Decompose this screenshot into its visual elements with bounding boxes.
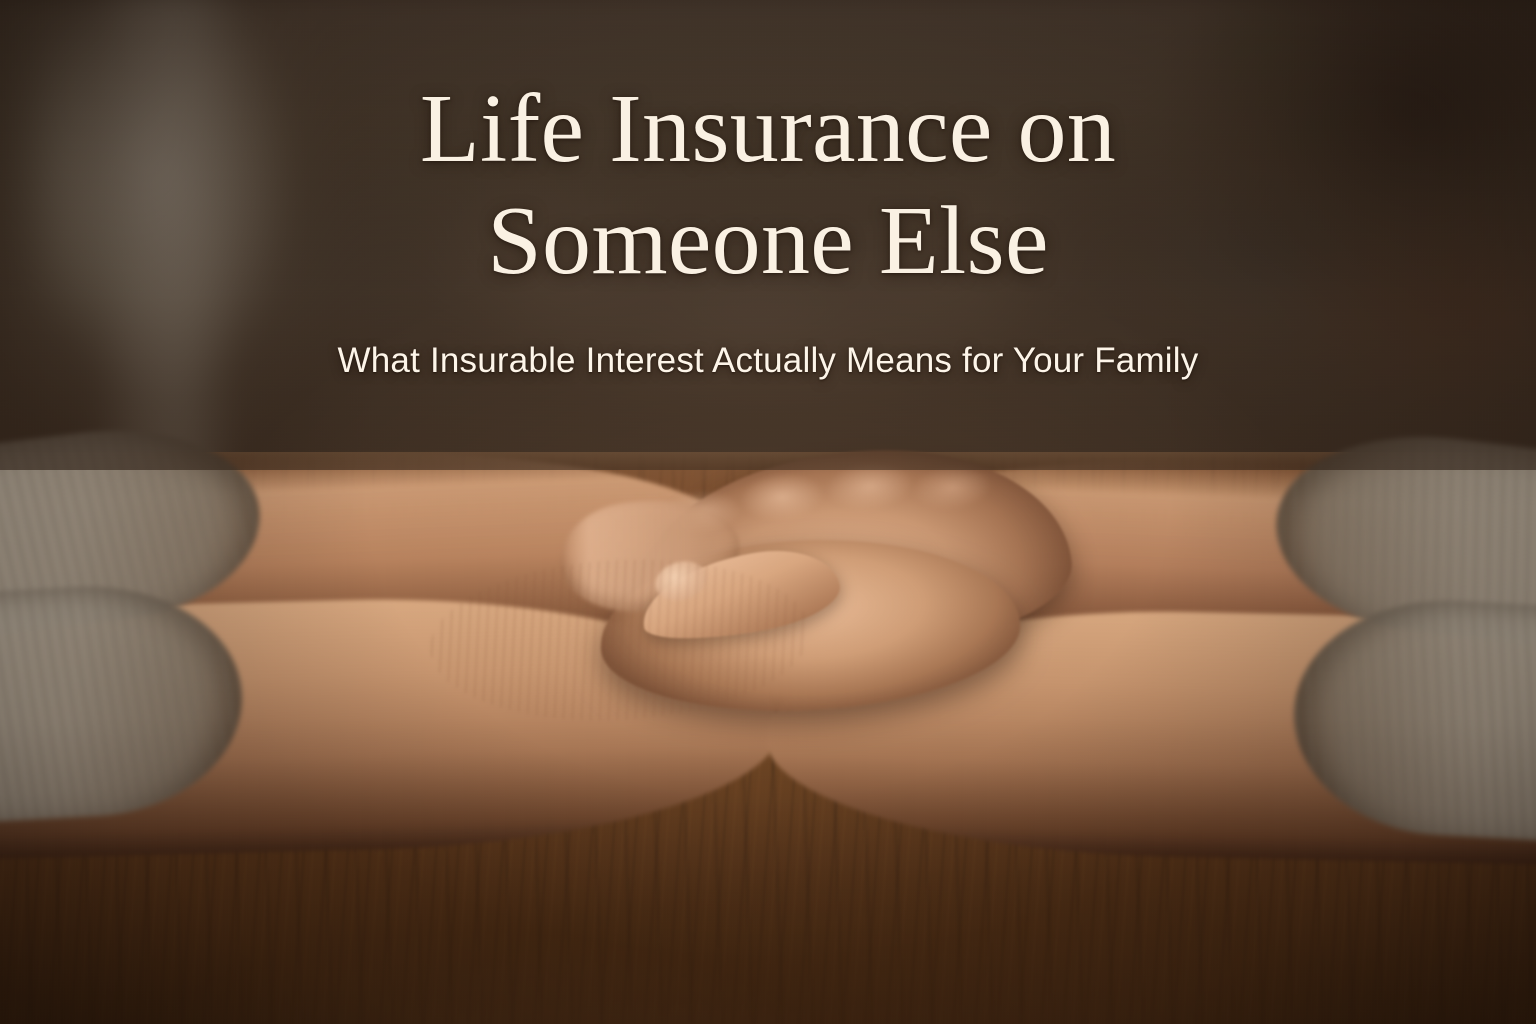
page-title-line-1: Life Insurance on <box>420 75 1116 183</box>
page-title: Life Insurance onSomeone Else <box>0 74 1536 297</box>
page-title-line-2: Someone Else <box>180 186 1356 298</box>
page-subtitle: What Insurable Interest Actually Means f… <box>0 341 1536 381</box>
hero-text-overlay: Life Insurance onSomeone Else What Insur… <box>0 0 1536 381</box>
hero-banner: Life Insurance onSomeone Else What Insur… <box>0 0 1536 1024</box>
